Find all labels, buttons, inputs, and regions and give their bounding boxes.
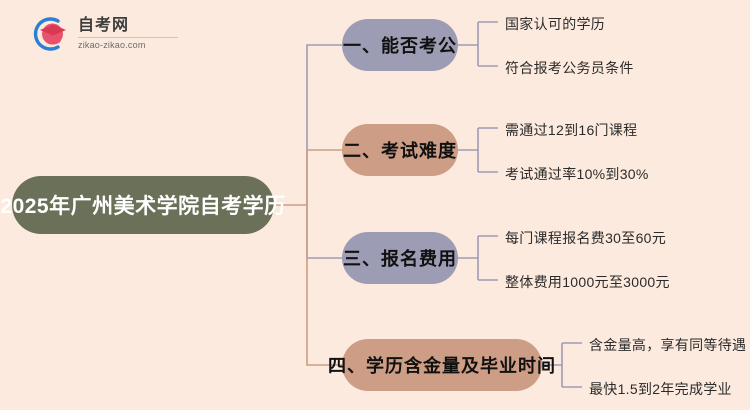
logo-text-block: 自考网 zikao-zikao.com	[78, 18, 178, 50]
branch-node-4-label: 四、学历含金量及毕业时间	[328, 352, 556, 378]
branch-node-2-label: 二、考试难度	[343, 137, 457, 163]
logo-site-name: 自考网	[78, 18, 178, 34]
leaf-3-2: 整体费用1000元至3000元	[505, 272, 670, 292]
branch-node-1-label: 一、能否考公	[343, 32, 457, 58]
leaf-1-2: 符合报考公务员条件	[505, 58, 634, 78]
leaf-4-1: 含金量高，享有同等待遇	[589, 335, 746, 355]
wire-trunk-branch-4	[307, 205, 342, 365]
root-node[interactable]: 2025年广州美术学院自考学历	[12, 176, 274, 234]
leaf-2-2: 考试通过率10%到30%	[505, 164, 649, 184]
leaf-2-1: 需通过12到16门课程	[505, 120, 637, 140]
branch-node-3[interactable]: 三、报名费用	[342, 232, 458, 284]
wire-trunk-branch-1	[307, 45, 342, 205]
logo-divider	[78, 37, 178, 38]
leaf-1-1: 国家认可的学历	[505, 14, 605, 34]
branch-node-4[interactable]: 四、学历含金量及毕业时间	[342, 339, 542, 391]
graduation-cap-arc-icon	[28, 14, 70, 54]
wire-trunk-branch-3	[307, 205, 342, 258]
branch-node-1[interactable]: 一、能否考公	[342, 19, 458, 71]
branch-node-2[interactable]: 二、考试难度	[342, 124, 458, 176]
logo-url: zikao-zikao.com	[78, 41, 178, 50]
root-node-label: 2025年广州美术学院自考学历	[0, 190, 285, 220]
mindmap-canvas: 自考网 zikao-zikao.com 2025年广州美术学院自考学历 一、能否…	[0, 0, 750, 410]
site-logo[interactable]: 自考网 zikao-zikao.com	[28, 12, 188, 56]
branch-node-3-label: 三、报名费用	[343, 245, 457, 271]
leaf-3-1: 每门课程报名费30至60元	[505, 228, 666, 248]
leaf-4-2: 最快1.5到2年完成学业	[589, 379, 732, 399]
wire-trunk-branch-2	[307, 150, 342, 205]
